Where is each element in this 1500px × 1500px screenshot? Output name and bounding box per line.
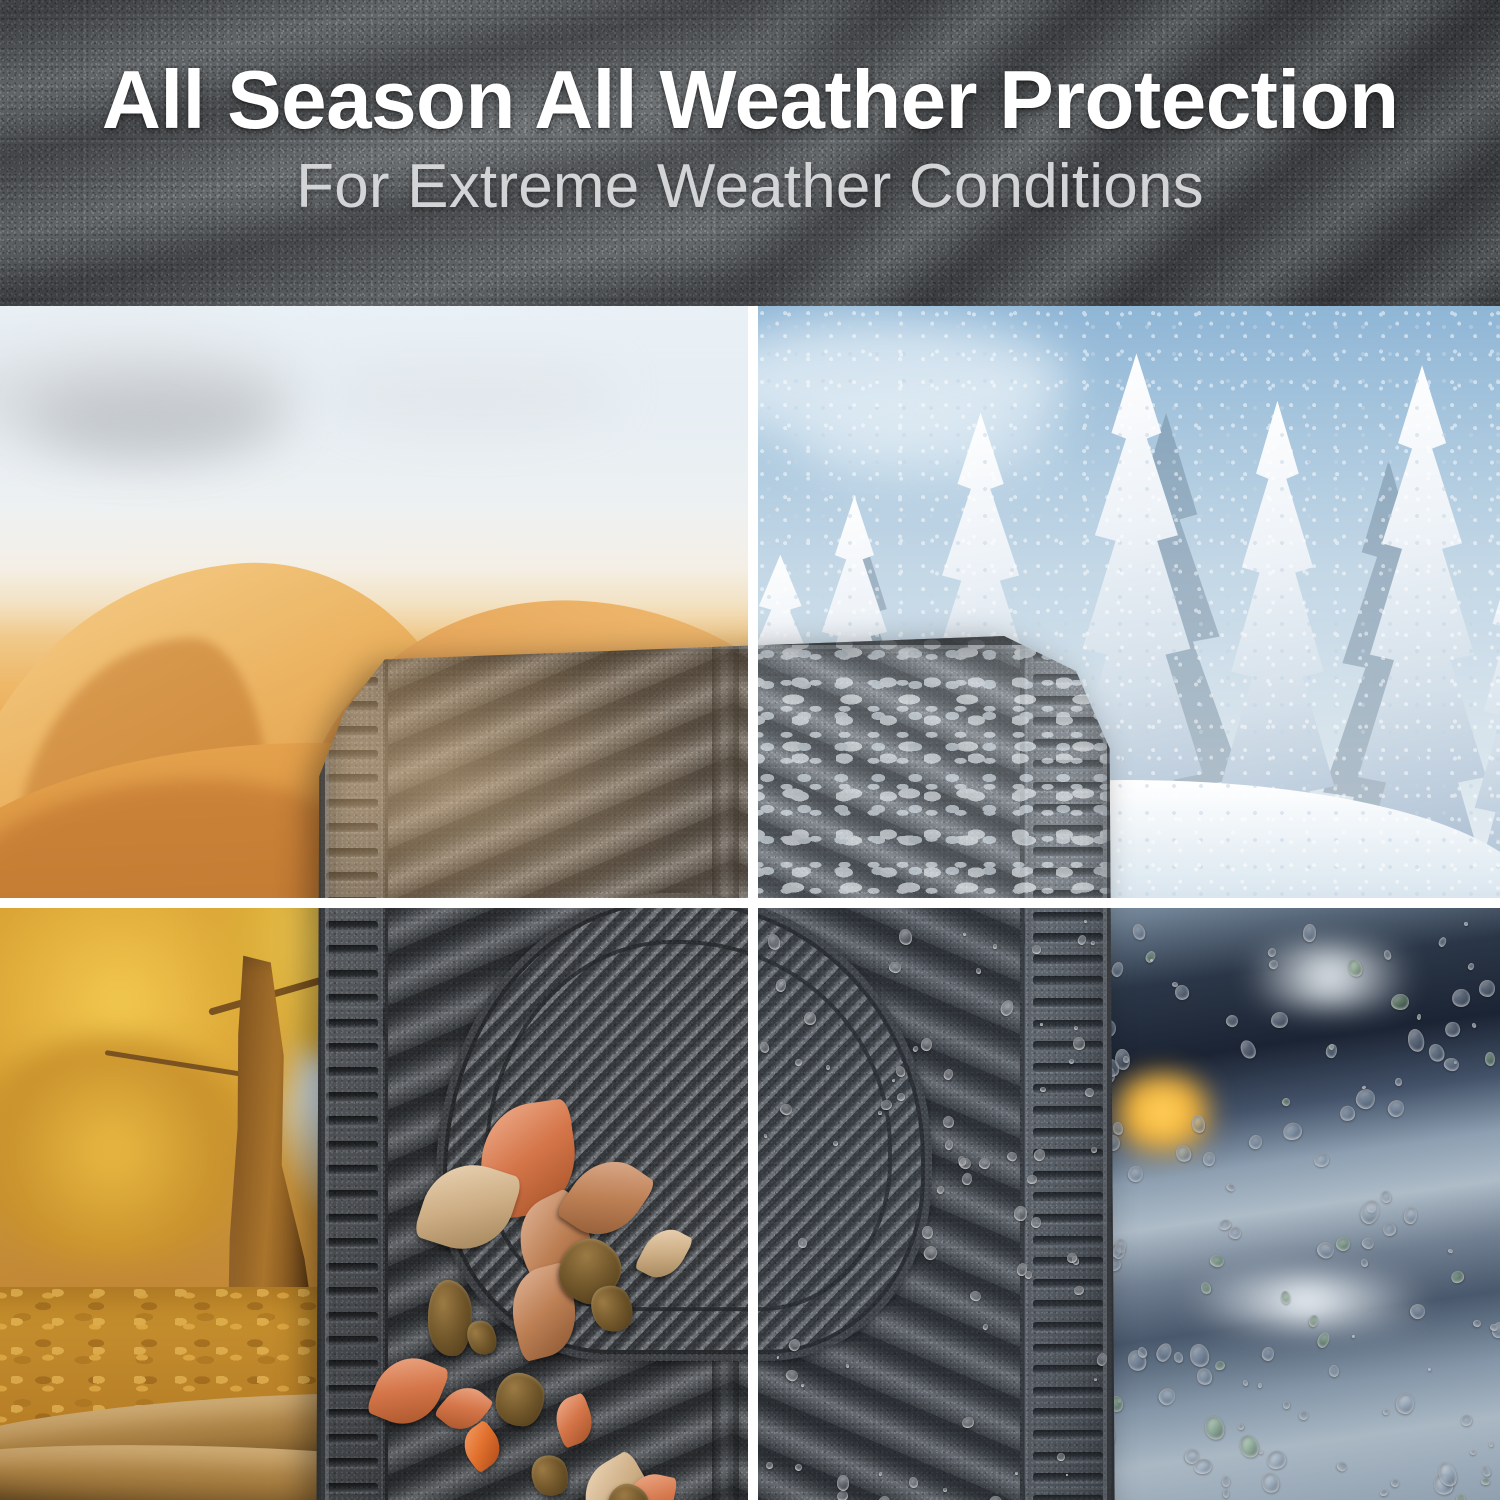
water-droplet [1361,1236,1376,1250]
water-droplet [1467,962,1475,971]
water-droplet [1338,1104,1357,1123]
water-droplet [1355,1087,1377,1110]
water-droplet [1259,1471,1281,1495]
water-droplet [1427,1368,1431,1372]
water-droplet [1187,1342,1212,1370]
bokeh-light [1144,1275,1470,1328]
divider-horizontal [0,898,1500,908]
water-droplet [1281,1120,1304,1141]
mat-raised-rim [316,636,1116,1500]
water-droplet [1451,987,1472,1007]
water-droplet [1222,1476,1230,1487]
water-droplet [1449,1269,1466,1286]
water-droplet [1271,1011,1289,1029]
water-droplet [1395,1392,1414,1414]
water-droplet [1481,1478,1490,1486]
water-droplet [1416,1014,1421,1020]
water-droplet [1213,1359,1226,1372]
water-droplet [1261,1346,1275,1361]
header-text-block: All Season All Weather Protection For Ex… [0,0,1500,306]
product-marketing-poster: All Season All Weather Protection For Ex… [0,0,1500,1500]
water-droplet [1336,1237,1351,1252]
water-droplet [1443,1020,1462,1038]
water-droplet [1122,1055,1129,1063]
floor-mat-product: CARPASS [316,636,1116,1500]
water-droplet [1303,924,1317,942]
water-droplet [1314,1239,1336,1261]
water-droplet [1360,1258,1369,1268]
water-droplet [1382,1408,1389,1415]
season-quadrant-grid: CARPASS [0,306,1500,1500]
water-droplet [1484,1051,1495,1066]
water-droplet [1455,1493,1465,1500]
water-droplet [1316,1331,1332,1349]
water-droplet [1335,1460,1347,1472]
water-droplet [1154,1341,1174,1364]
water-droplet [1225,1014,1239,1028]
water-droplet [1283,1400,1291,1408]
header-banner: All Season All Weather Protection For Ex… [0,0,1500,306]
water-droplet [1237,1424,1245,1432]
water-droplet [1265,1448,1289,1471]
water-droplet [1172,1351,1184,1364]
water-droplet [1247,1134,1263,1151]
water-droplet [1488,1441,1493,1447]
water-droplet [1385,1098,1406,1120]
water-droplet [1381,1221,1398,1238]
water-droplet [1470,1450,1477,1456]
water-droplet [1406,1028,1426,1054]
water-droplet [1357,1198,1381,1227]
water-droplet [1479,979,1496,997]
water-droplet [1203,1152,1216,1166]
water-droplet [1448,1249,1454,1254]
water-droplet [1193,1458,1213,1475]
water-droplet [1390,994,1409,1011]
water-droplet [1299,1411,1309,1421]
water-droplet [1195,1366,1215,1387]
water-droplet [1464,921,1468,925]
water-droplet [1229,1227,1241,1239]
water-droplet [1127,1165,1144,1182]
water-droplet [1225,1183,1236,1194]
water-droplet [1236,1432,1261,1460]
water-droplet [1437,936,1447,948]
water-droplet [1312,1151,1329,1168]
water-droplet [1472,1319,1481,1328]
page-title: All Season All Weather Protection [102,58,1399,141]
water-droplet [1329,1365,1340,1378]
water-droplet [1156,1386,1178,1408]
water-droplet [1380,1489,1389,1497]
water-droplet [1242,1379,1249,1387]
water-droplet [1395,1078,1402,1086]
mat-louver-slot [326,652,378,661]
water-droplet [1442,1056,1460,1072]
page-subtitle: For Extreme Weather Conditions [296,156,1204,218]
water-droplet [1259,1450,1263,1454]
water-droplet [1403,1207,1418,1225]
water-droplet [1380,1190,1392,1204]
water-droplet [1352,1335,1356,1338]
water-droplet [1390,1479,1399,1488]
water-droplet [1237,1038,1258,1061]
water-droplet [1209,1253,1225,1267]
water-droplet [1479,1465,1491,1478]
water-droplet [1280,1096,1290,1107]
water-droplet [1258,1383,1263,1389]
water-droplet [1130,922,1147,941]
water-droplet [1201,1414,1226,1443]
water-droplet [1223,1489,1229,1498]
bokeh-light [1107,1074,1218,1151]
water-droplet [1460,1414,1473,1427]
water-droplet [1471,1022,1476,1028]
